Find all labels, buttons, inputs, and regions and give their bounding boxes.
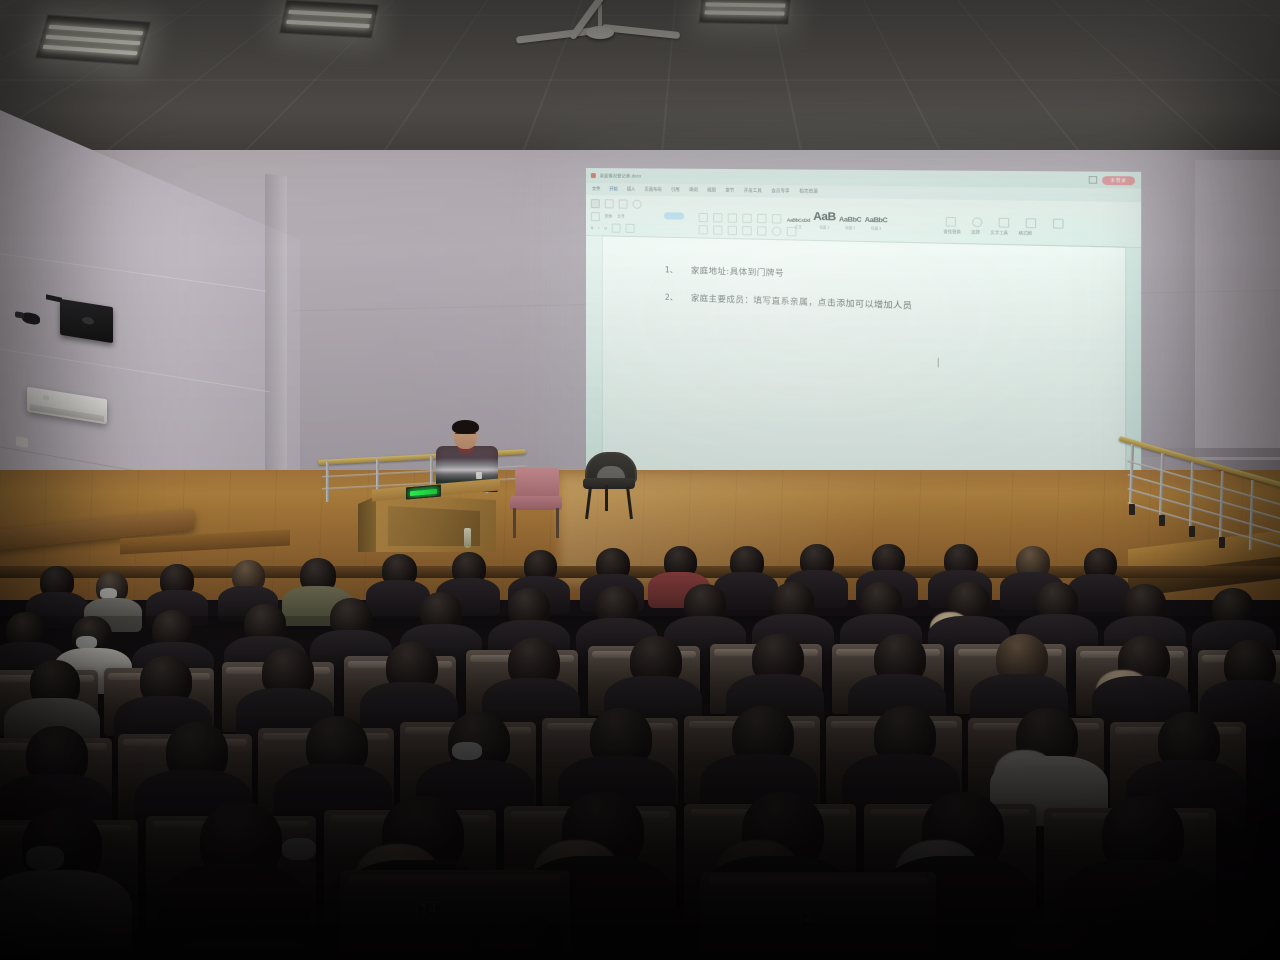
- ribbon-tab-3[interactable]: 页面布局: [644, 187, 661, 193]
- ceiling-fan-icon: [520, 4, 680, 68]
- document-filename[interactable]: 家庭情况登记表.docx: [600, 173, 642, 179]
- underline-icon[interactable]: U: [604, 226, 607, 230]
- ribbon-tab-9[interactable]: 开发工具: [744, 188, 762, 194]
- show-marks-icon[interactable]: [772, 214, 782, 224]
- select-icon[interactable]: [972, 217, 982, 227]
- ribbon-tab-7[interactable]: 章节: [725, 188, 734, 194]
- font-name-label[interactable]: 宋体: [605, 214, 613, 219]
- style-caption-1: 标题 1: [820, 224, 830, 229]
- paragraph-panel-icon[interactable]: [1026, 218, 1037, 228]
- ribbon-tab-11[interactable]: 稻壳资源: [799, 188, 818, 195]
- right-wall-pillar: [1195, 160, 1280, 460]
- ribbon-group-right-labels: 查找替换 选择 文字工具 格式刷: [943, 230, 1032, 237]
- select-label[interactable]: 选择: [971, 230, 980, 236]
- align-left-icon[interactable]: [699, 225, 708, 234]
- style-item-3[interactable]: AaBbC 标题 3: [865, 217, 888, 231]
- find-replace-label[interactable]: 查找替换: [943, 230, 960, 236]
- bold-icon[interactable]: B: [591, 226, 594, 230]
- style-caption-0: 正文: [795, 224, 802, 229]
- cursor-arrow-icon[interactable]: [1053, 219, 1064, 229]
- list-number-2: 2、: [665, 292, 678, 304]
- decrease-indent-icon[interactable]: [728, 213, 737, 222]
- text-tools-icon[interactable]: [999, 218, 1010, 228]
- app-logo-icon: [591, 173, 596, 178]
- ribbon-tab-0[interactable]: 文件: [592, 186, 600, 192]
- list-text-1: 家庭地址:具体到门牌号: [691, 264, 784, 279]
- sort-icon[interactable]: [757, 214, 767, 224]
- audience-area: 23: [0, 520, 1280, 960]
- style-item-0[interactable]: AaBbCcDd 正文: [787, 217, 810, 229]
- format-painter-icon[interactable]: [633, 200, 642, 209]
- align-center-icon[interactable]: [713, 225, 722, 234]
- paste-icon[interactable]: [591, 199, 600, 208]
- ribbon-tab-5[interactable]: 审阅: [689, 187, 698, 193]
- increase-indent-icon[interactable]: [742, 214, 751, 223]
- ribbon-group-font-row: 宋体 五号: [591, 212, 625, 222]
- text-tools-label[interactable]: 文字工具: [990, 231, 1008, 237]
- account-icon[interactable]: [1089, 176, 1097, 184]
- ribbon-tab-4[interactable]: 引用: [671, 187, 680, 193]
- line-spacing-icon[interactable]: [757, 226, 767, 236]
- face-mask: [26, 846, 64, 870]
- copy-icon[interactable]: [619, 199, 628, 208]
- style-preview-3: AaBbC: [865, 217, 888, 225]
- highlight-icon[interactable]: [626, 224, 635, 233]
- light-panel-2: [279, 0, 379, 38]
- format-painter-label[interactable]: 格式刷: [1019, 231, 1032, 237]
- face-mask: [282, 838, 316, 860]
- text-color-icon[interactable]: [612, 223, 621, 232]
- style-caption-3: 标题 3: [871, 225, 881, 231]
- italic-icon[interactable]: I: [598, 226, 599, 230]
- glasses-icon: [455, 433, 476, 438]
- font-size-label[interactable]: 五号: [617, 215, 625, 220]
- wall-outlet: [16, 436, 28, 448]
- ribbon-tab-1[interactable]: 开始: [609, 186, 618, 192]
- ribbon-group-paragraph-2: [699, 225, 797, 236]
- list-text-2: 家庭主要成员：填写直系亲属，点击添加可以增加人员: [691, 291, 912, 311]
- seat-back-front: 2: [700, 872, 936, 960]
- font-selector-pill[interactable]: [664, 212, 684, 219]
- style-item-1[interactable]: AaB 标题 1: [813, 211, 836, 230]
- name-badge: [476, 472, 482, 479]
- light-panel-1: [35, 14, 151, 65]
- style-preview-1: AaB: [813, 211, 836, 224]
- document-line-1: 1、 家庭地址:具体到门牌号: [665, 263, 784, 279]
- seat-number: 14: [416, 902, 442, 919]
- login-button[interactable]: 未登录: [1102, 176, 1135, 185]
- ribbon-tab-10[interactable]: 会员专享: [771, 188, 789, 194]
- bullet-list-icon[interactable]: [699, 213, 708, 222]
- find-replace-icon[interactable]: [946, 217, 956, 227]
- list-number-1: 1、: [665, 264, 678, 276]
- text-caret: [938, 358, 939, 368]
- style-preview-2: AaBbC: [839, 216, 861, 224]
- auditorium-scene: 家庭情况登记表.docx 未登录 文件 开始 插入 页面布局 引用 审阅 视图 …: [0, 0, 1280, 960]
- ribbon-group-right-tools: [946, 217, 1064, 229]
- ribbon-group-font-style: B I U: [591, 223, 635, 233]
- font-box-icon[interactable]: [591, 212, 600, 221]
- audience-body: [0, 870, 132, 960]
- light-panel-3: [699, 0, 792, 25]
- ribbon-group-selector: [664, 212, 684, 219]
- face-mask: [452, 742, 482, 760]
- ribbon-group-clipboard: [591, 199, 642, 209]
- seat-number: 2: [800, 910, 817, 927]
- justify-icon[interactable]: [742, 226, 751, 236]
- document-line-2: 2、 家庭主要成员：填写直系亲属，点击添加可以增加人员: [665, 291, 912, 312]
- style-preview-0: AaBbCcDd: [787, 217, 810, 223]
- numbered-list-icon[interactable]: [713, 213, 722, 222]
- ribbon-group-paragraph-1: [699, 213, 782, 224]
- align-right-icon[interactable]: [728, 226, 737, 235]
- style-caption-2: 标题 2: [845, 225, 855, 230]
- style-item-2[interactable]: AaBbC 标题 2: [839, 216, 861, 230]
- ribbon-tab-2[interactable]: 插入: [627, 186, 636, 192]
- style-gallery: AaBbCcDd 正文 AaB 标题 1 AaBbC 标题 2 AaBbC 标题…: [787, 210, 888, 231]
- wicker-armchair: [583, 452, 635, 520]
- shading-icon[interactable]: [772, 227, 782, 237]
- cut-icon[interactable]: [605, 199, 614, 208]
- ribbon-tab-6[interactable]: 视图: [707, 187, 716, 193]
